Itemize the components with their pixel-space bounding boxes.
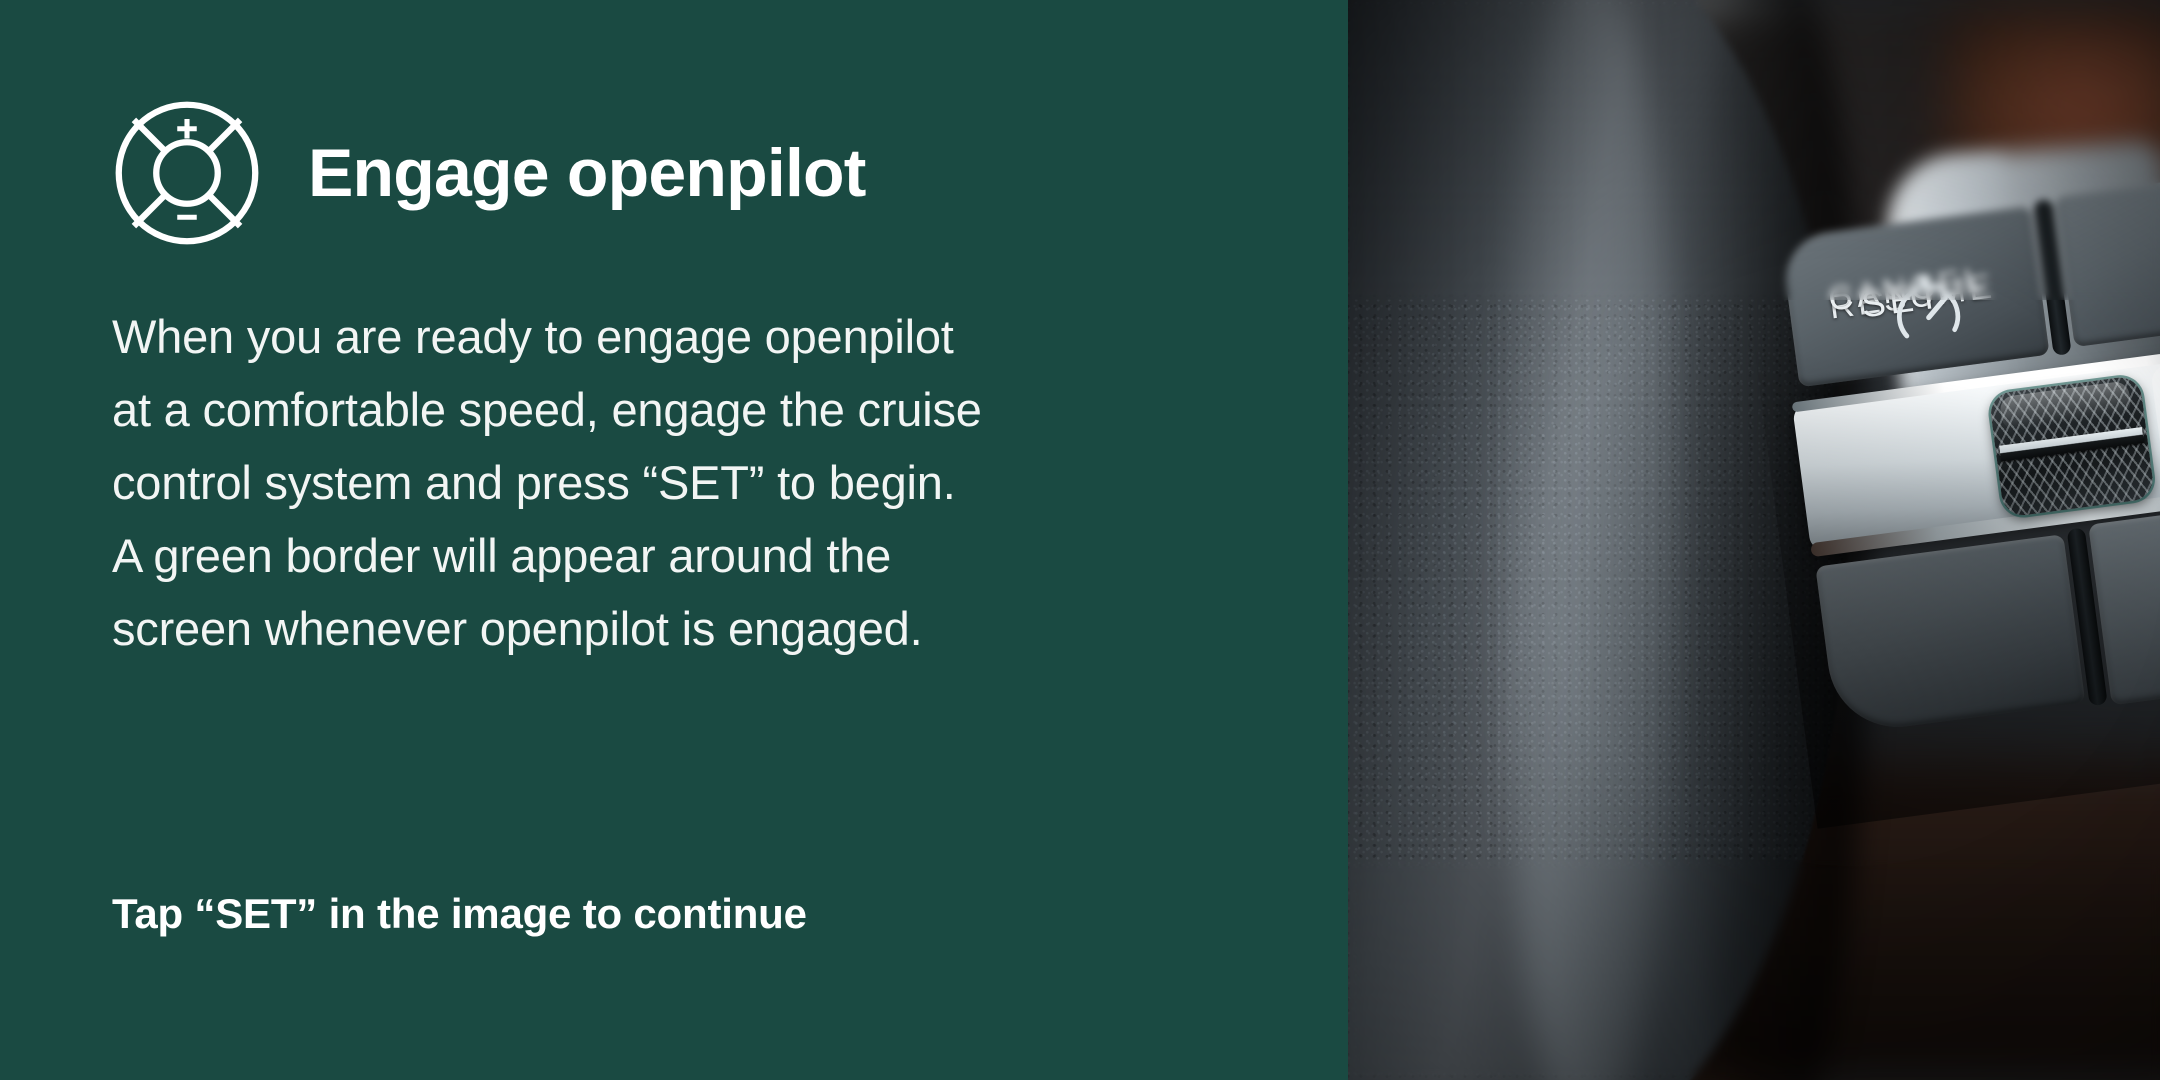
body-line-1: When you are ready to engage openpilot — [112, 300, 1292, 373]
continue-instruction: Tap “SET” in the image to continue — [112, 890, 807, 938]
body-line-4: A green border will appear around the — [112, 519, 1292, 592]
page-title: Engage openpilot — [308, 139, 866, 207]
body-line-5: screen whenever openpilot is engaged. — [112, 592, 1292, 665]
cruise-control-icon — [112, 98, 262, 248]
instruction-panel: Engage openpilot When you are ready to e… — [0, 0, 1348, 1080]
body-line-2: at a comfortable speed, engage the cruis… — [112, 373, 1292, 446]
onboarding-screen: Engage openpilot When you are ready to e… — [0, 0, 2160, 1080]
photo-vignette — [1348, 0, 2160, 1080]
steering-wheel-photo[interactable]: RESUME CANCEL SET — [1348, 0, 2160, 1080]
body-line-3: control system and press “SET” to begin. — [112, 446, 1292, 519]
instruction-body: When you are ready to engage openpilot a… — [112, 300, 1292, 665]
panel-header: Engage openpilot — [112, 95, 866, 250]
